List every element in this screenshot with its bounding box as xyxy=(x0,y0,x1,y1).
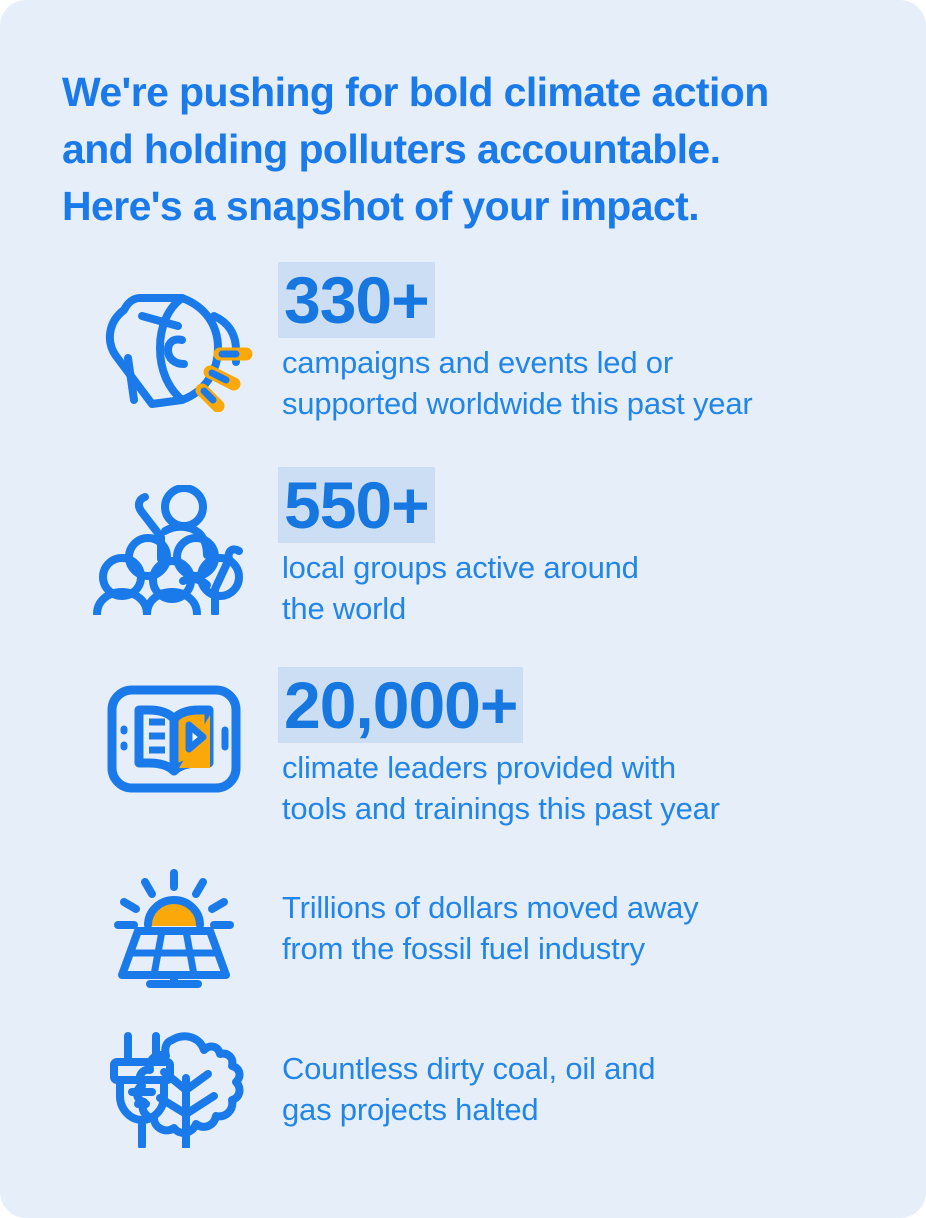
plug-leaf-icon xyxy=(74,1030,274,1148)
stat-description-line: Countless dirty coal, oil and xyxy=(282,1048,926,1089)
stat-description-line: from the fossil fuel industry xyxy=(282,928,926,969)
stat-text: Countless dirty coal, oil and gas projec… xyxy=(274,1048,926,1130)
impact-snapshot-card: We're pushing for bold climate action an… xyxy=(0,0,926,1218)
stat-text: Trillions of dollars moved away from the… xyxy=(274,887,926,969)
stat-description: Trillions of dollars moved away from the… xyxy=(282,887,926,969)
tablet-book-play-icon xyxy=(74,667,274,793)
stat-description: climate leaders provided with tools and … xyxy=(282,747,926,829)
stat-row: Countless dirty coal, oil and gas projec… xyxy=(0,1014,926,1164)
stat-description-line: gas projects halted xyxy=(282,1089,926,1130)
stat-description-line: Trillions of dollars moved away xyxy=(282,887,926,928)
stat-description: campaigns and events led or supported wo… xyxy=(282,342,926,424)
stat-value: 330+ xyxy=(278,262,435,338)
stat-row: 20,000+ climate leaders provided with to… xyxy=(0,667,926,842)
impact-stats-list: 330+ campaigns and events led or support… xyxy=(0,262,926,1164)
stat-description-line: local groups active around xyxy=(282,547,926,588)
stat-value: 20,000+ xyxy=(278,667,523,743)
stat-description-line: the world xyxy=(282,588,926,629)
megaphone-icon xyxy=(74,262,274,412)
headline-line-2: and holding polluters accountable. xyxy=(62,121,882,178)
page-title: We're pushing for bold climate action an… xyxy=(62,64,882,235)
stat-description: Countless dirty coal, oil and gas projec… xyxy=(282,1048,926,1130)
stat-description: local groups active around the world xyxy=(282,547,926,629)
stat-row: Trillions of dollars moved away from the… xyxy=(0,842,926,1014)
crowd-people-icon xyxy=(74,467,274,615)
stat-text: 550+ local groups active around the worl… xyxy=(274,467,926,629)
stat-description-line: supported worldwide this past year xyxy=(282,383,926,424)
headline-line-1: We're pushing for bold climate action xyxy=(62,64,882,121)
stat-value: 550+ xyxy=(278,467,435,543)
stat-text: 330+ campaigns and events led or support… xyxy=(274,262,926,424)
stat-description-line: campaigns and events led or xyxy=(282,342,926,383)
stat-row: 330+ campaigns and events led or support… xyxy=(0,262,926,467)
stat-row: 550+ local groups active around the worl… xyxy=(0,467,926,667)
stat-description-line: tools and trainings this past year xyxy=(282,788,926,829)
stat-description-line: climate leaders provided with xyxy=(282,747,926,788)
stat-text: 20,000+ climate leaders provided with to… xyxy=(274,667,926,829)
headline-line-3: Here's a snapshot of your impact. xyxy=(62,178,882,235)
solar-panel-sun-icon xyxy=(74,867,274,989)
